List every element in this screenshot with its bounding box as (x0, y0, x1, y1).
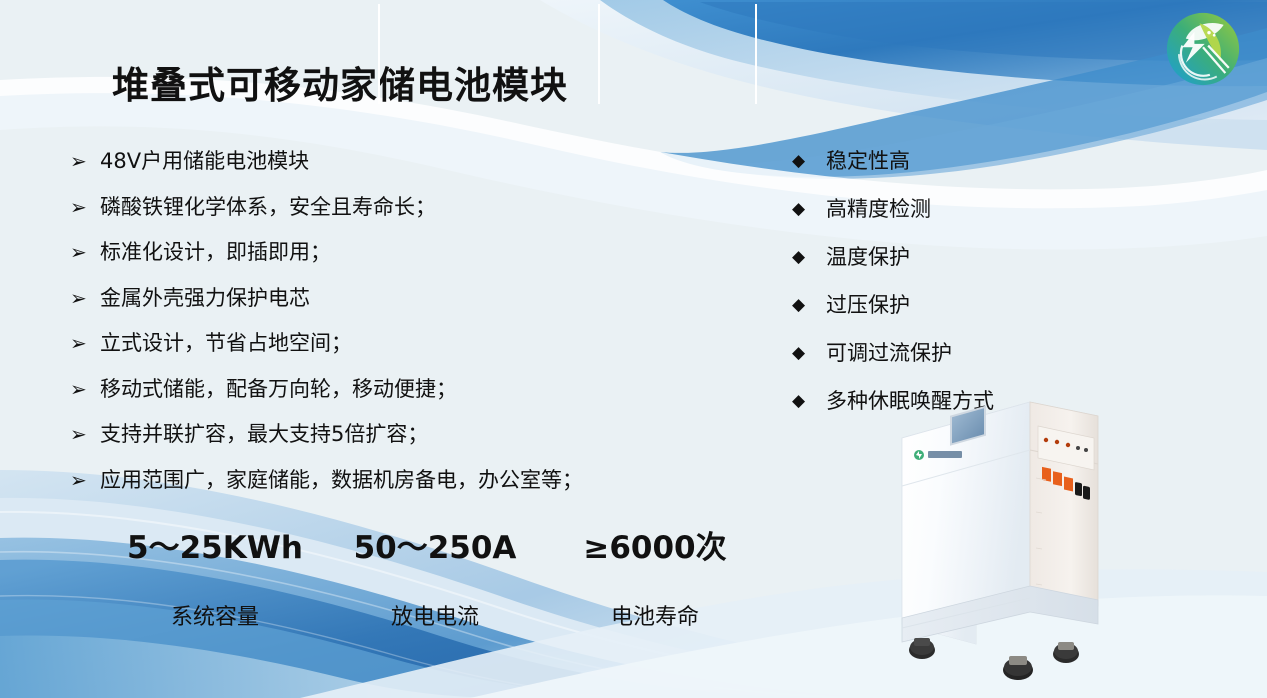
arrow-bullet-icon: ➢ (70, 376, 100, 402)
stat-label: 系统容量 (171, 599, 259, 631)
stat-divider (378, 4, 380, 104)
list-item: ◆ 稳定性高 (792, 148, 1092, 174)
list-item: ➢ 磷酸铁锂化学体系，安全且寿命长； (70, 194, 710, 220)
list-item-label: 移动式储能，配备万向轮，移动便捷； (100, 376, 457, 402)
stat-value: 5〜25KWh (127, 522, 303, 567)
stat-label: 放电电流 (391, 599, 479, 631)
list-item-label: 可调过流保护 (826, 340, 952, 366)
product-image (878, 392, 1118, 692)
diamond-bullet-icon: ◆ (792, 292, 826, 318)
spec-stats-row: 5〜25KWh 系统容量 50〜250A 放电电流 ≥6000次 电池寿命 (105, 512, 765, 617)
list-item-label: 应用范围广，家庭储能，数据机房备电，办公室等； (100, 467, 583, 493)
stat-system-capacity: 5〜25KWh 系统容量 (105, 512, 325, 617)
list-item: ➢ 支持并联扩容，最大支持5倍扩容； (70, 421, 710, 447)
arrow-bullet-icon: ➢ (70, 330, 100, 356)
diamond-bullet-icon: ◆ (792, 148, 826, 174)
diamond-bullet-icon: ◆ (792, 388, 826, 414)
stat-battery-life: ≥6000次 电池寿命 (545, 512, 765, 617)
list-item: ◆ 过压保护 (792, 292, 1092, 318)
list-item-label: 磷酸铁锂化学体系，安全且寿命长； (100, 194, 436, 220)
arrow-bullet-icon: ➢ (70, 239, 100, 265)
arrow-bullet-icon: ➢ (70, 194, 100, 220)
list-item: ➢ 金属外壳强力保护电芯 (70, 285, 710, 311)
casters (909, 638, 1079, 680)
diamond-bullet-icon: ◆ (792, 196, 826, 222)
arrow-bullet-icon: ➢ (70, 467, 100, 493)
slide-canvas: 堆叠式可移动家储电池模块 ➢ 48V户用储能电池模块 ➢ 磷酸铁锂化学体系，安全… (0, 0, 1267, 698)
list-item: ➢ 立式设计，节省占地空间； (70, 330, 710, 356)
list-item: ◆ 可调过流保护 (792, 340, 1092, 366)
list-item-label: 高精度检测 (826, 196, 931, 222)
stat-value: 50〜250A (354, 522, 517, 567)
company-logo-icon (1160, 6, 1246, 92)
list-item-label: 标准化设计，即插即用； (100, 239, 331, 265)
stat-divider (755, 4, 757, 104)
list-item-label: 过压保护 (826, 292, 910, 318)
list-item: ➢ 标准化设计，即插即用； (70, 239, 710, 265)
battery-cabinet-illustration (878, 392, 1118, 692)
company-logo (1160, 6, 1246, 92)
arrow-bullet-icon: ➢ (70, 421, 100, 447)
arrow-bullet-icon: ➢ (70, 285, 100, 311)
feature-list-left: ➢ 48V户用储能电池模块 ➢ 磷酸铁锂化学体系，安全且寿命长； ➢ 标准化设计… (70, 148, 710, 512)
list-item-label: 支持并联扩容，最大支持5倍扩容； (100, 421, 428, 447)
list-item: ➢ 移动式储能，配备万向轮，移动便捷； (70, 376, 710, 402)
list-item-label: 稳定性高 (826, 148, 910, 174)
diamond-bullet-icon: ◆ (792, 244, 826, 270)
list-item: ◆ 高精度检测 (792, 196, 1092, 222)
stat-value: ≥6000次 (583, 522, 726, 567)
page-title: 堆叠式可移动家储电池模块 (112, 55, 568, 109)
list-item: ➢ 应用范围广，家庭储能，数据机房备电，办公室等； (70, 467, 710, 493)
list-item-label: 立式设计，节省占地空间； (100, 330, 352, 356)
arrow-bullet-icon: ➢ (70, 148, 100, 174)
list-item: ➢ 48V户用储能电池模块 (70, 148, 710, 174)
list-item-label: 48V户用储能电池模块 (100, 148, 309, 174)
stat-divider (598, 4, 600, 104)
list-item: ◆ 温度保护 (792, 244, 1092, 270)
stat-discharge-current: 50〜250A 放电电流 (325, 512, 545, 617)
list-item-label: 温度保护 (826, 244, 910, 270)
diamond-bullet-icon: ◆ (792, 340, 826, 366)
list-item-label: 金属外壳强力保护电芯 (100, 285, 310, 311)
stat-label: 电池寿命 (611, 599, 699, 631)
